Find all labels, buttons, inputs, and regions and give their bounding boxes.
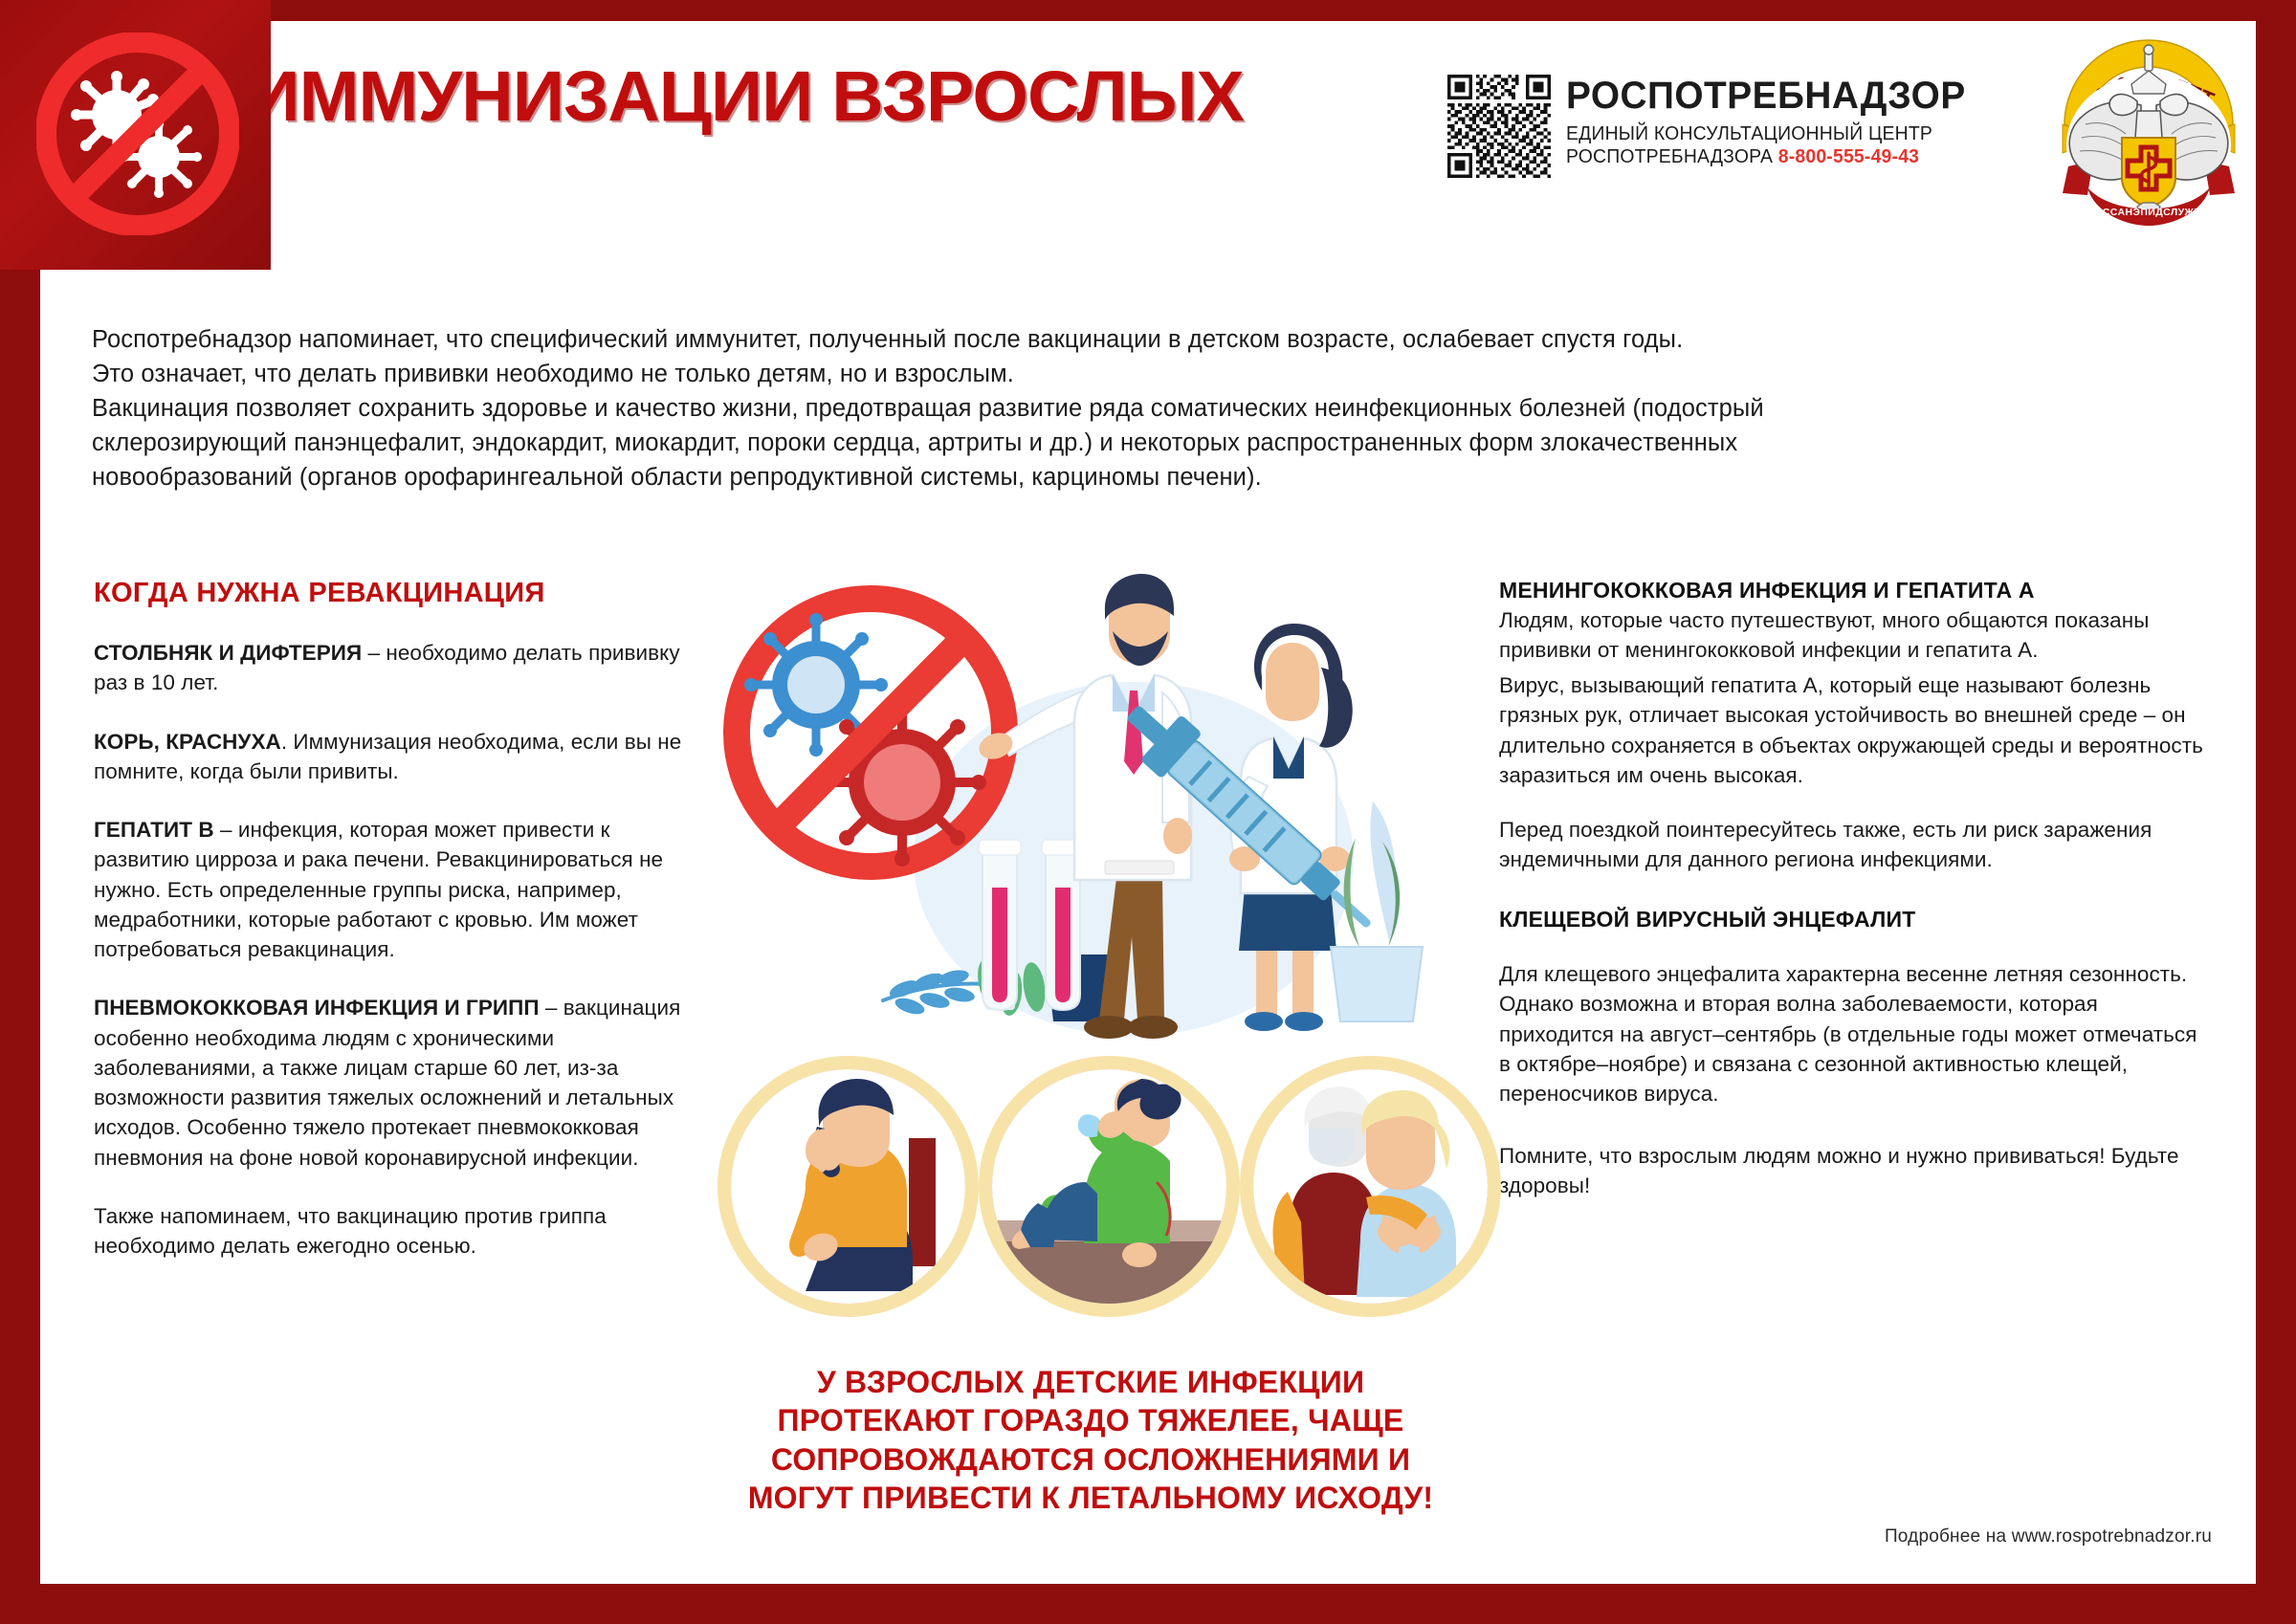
intro-line-3: Вакцинация позволяет сохранить здоровье … [92,391,2197,426]
footer-note[interactable]: Подробнее на www.rospotrebnadzor.ru [1499,1526,2212,1547]
left-item-tetanus-term: СТОЛБНЯК И ДИФТЕРИЯ [94,641,362,665]
poster-frame: ОБ ИММУНИЗАЦИИ ВЗРОСЛЫХ [0,0,2296,1624]
left-column-heading: КОГДА НУЖНА РЕВАКЦИНАЦИЯ [94,578,687,609]
left-item-pneumococcus-term: ПНЕВМОКОККОВАЯ ИНФЕКЦИЯ И ГРИПП [94,996,540,1020]
rospotrebnadzor-emblem-icon: 100 ЛЕТ [2049,25,2248,226]
callout-warning: У ВЗРОСЛЫХ ДЕТСКИЕ ИНФЕКЦИИ ПРОТЕКАЮТ ГО… [727,1363,1454,1517]
no-virus-icon [36,33,239,235]
right-para-5: Помните, что взрослым людям можно и нужн… [1499,1141,2212,1200]
intro-line-4: склерозирующий панэнцефалит, эндокардит,… [92,426,2197,460]
intro-line-5: новообразований (органов орофарингеально… [92,460,2197,494]
callout-line-4: МОГУТ ПРИВЕСТИ К ЛЕТАЛЬНОМУ ИСХОДУ! [727,1479,1454,1517]
corner-block [0,0,271,270]
brand-subtitle-line1: ЕДИНЫЙ КОНСУЛЬТАЦИОННЫЙ ЦЕНТР [1566,122,1966,145]
left-column-closing: Также напоминаем, что вакцинацию против … [94,1201,687,1262]
circle-man-with-headache [717,1056,979,1317]
intro-paragraph: Роспотребнадзор напоминает, что специфич… [92,322,2197,494]
page-title: ОБ ИММУНИЗАЦИИ ВЗРОСЛЫХ [123,55,1244,137]
left-item-hepatitis-b-term: ГЕПАТИТ В [94,818,214,842]
callout-line-2: ПРОТЕКАЮТ ГОРАЗДО ТЯЖЕЛЕЕ, ЧАЩЕ [727,1401,1454,1439]
brand-subtitle-line2-text: РОСПОТРЕБНАДЗОРА [1566,146,1773,167]
left-item-hepatitis-b: ГЕПАТИТ В – инфекция, которая может прив… [94,815,687,964]
brand-subtitle: ЕДИНЫЙ КОНСУЛЬТАЦИОННЫЙ ЦЕНТР РОСПОТРЕБН… [1566,122,1966,169]
brand-name: РОСПОТРЕБНАДЗОР [1566,77,1966,115]
circle-elderly-couple [1240,1056,1501,1317]
doctors-illustration [713,572,1478,1060]
intro-line-1: Роспотребнадзор напоминает, что специфич… [92,322,2197,357]
right-para-2: Вирус, вызывающий гепатита А, который ещ… [1499,670,2212,790]
callout-line-3: СОПРОВОЖДАЮТСЯ ОСЛОЖНЕНИЯМИ И [727,1440,1454,1479]
left-item-tetanus: СТОЛБНЯК И ДИФТЕРИЯ – необходимо делать … [94,638,687,698]
left-item-measles: КОРЬ, КРАСНУХА. Иммунизация необходима, … [94,727,687,787]
left-item-pneumococcus: ПНЕВМОКОККОВАЯ ИНФЕКЦИЯ И ГРИПП – вакцин… [94,993,687,1173]
circle-man-lying-sick [979,1056,1240,1317]
symptom-circles [717,1047,1473,1325]
left-item-measles-term: КОРЬ, КРАСНУХА [94,730,281,754]
callout-line-1: У ВЗРОСЛЫХ ДЕТСКИЕ ИНФЕКЦИИ [727,1363,1454,1401]
brand-subtitle-line2: РОСПОТРЕБНАДЗОРА 8-800-555-49-43 [1566,145,1966,168]
right-heading-meningococcal: МЕНИНГОКОККОВАЯ ИНФЕКЦИЯ И ГЕПАТИТА А [1499,578,2212,604]
qr-code-icon[interactable] [1447,75,1551,178]
hotline-phone[interactable]: 8-800-555-49-43 [1778,146,1919,167]
emblem-ribbon-text: ГОССАНЭПИДСЛУЖБА [2088,207,2209,218]
left-column: КОГДА НУЖНА РЕВАКЦИНАЦИЯ СТОЛБНЯК И ДИФТ… [94,578,687,1262]
right-heading-encephalitis: КЛЕЩЕВОЙ ВИРУСНЫЙ ЭНЦЕФАЛИТ [1499,907,2212,933]
brand-text-group: РОСПОТРЕБНАДЗОР ЕДИНЫЙ КОНСУЛЬТАЦИОННЫЙ … [1566,75,1978,169]
right-para-1: Людям, которые часто путешествуют, много… [1499,605,2212,665]
right-para-4: Для клещевого энцефалита характерна весе… [1499,959,2212,1108]
left-item-pneumococcus-text: – вакцинация особенно необходима людям с… [94,996,680,1169]
intro-line-2: Это означает, что делать прививки необхо… [92,357,2197,391]
right-para-3: Перед поездкой поинтересуйтесь также, ес… [1499,815,2212,874]
brand-block: РОСПОТРЕБНАДЗОР ЕДИНЫЙ КОНСУЛЬТАЦИОННЫЙ … [1447,75,1978,178]
right-column: МЕНИНГОКОККОВАЯ ИНФЕКЦИЯ И ГЕПАТИТА А Лю… [1499,578,2212,1225]
